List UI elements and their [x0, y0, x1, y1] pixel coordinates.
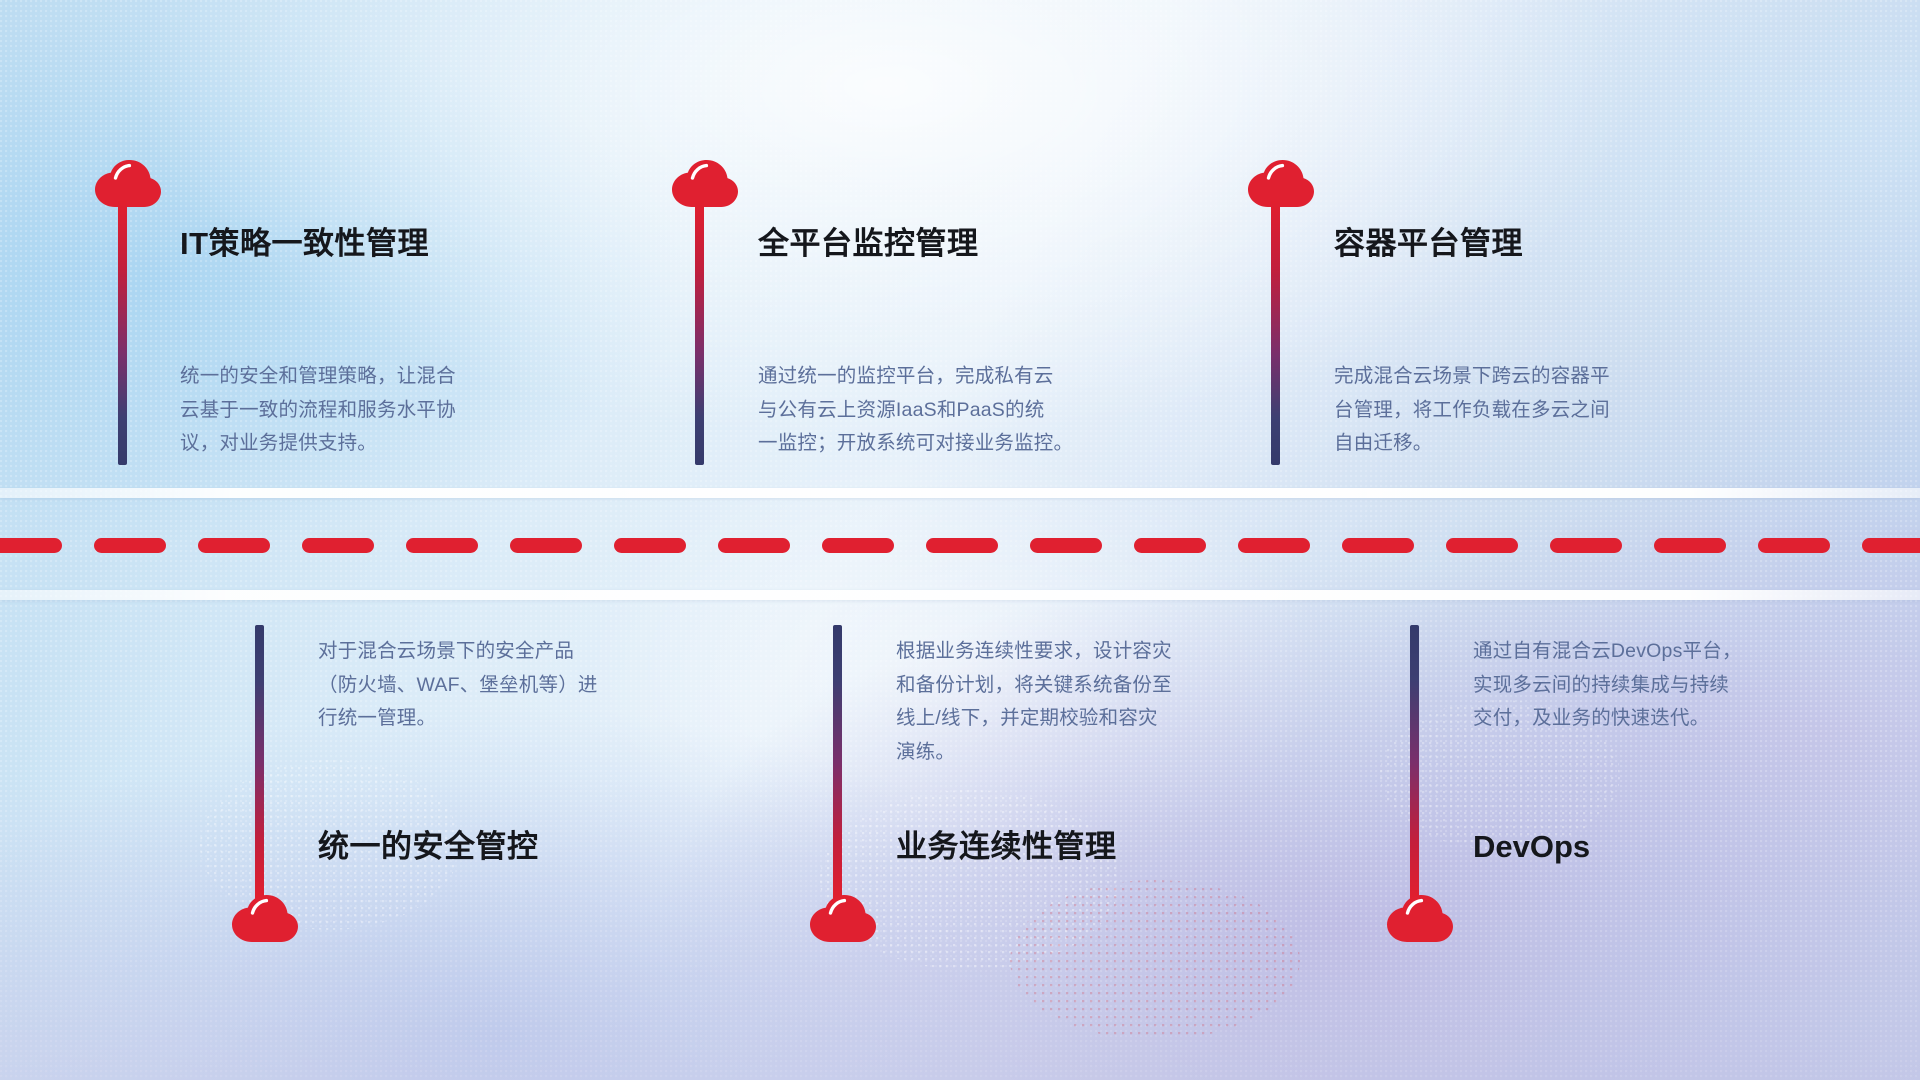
road-dash	[1654, 538, 1726, 553]
column-description: 对于混合云场景下的安全产品 （防火墙、WAF、堡垒机等）进 行统一管理。	[318, 635, 748, 736]
cloud-icon	[810, 895, 876, 943]
dot-patch-red	[1010, 880, 1300, 1040]
road-dash	[1550, 538, 1622, 553]
road-dash	[822, 538, 894, 553]
cloud-icon	[1387, 895, 1453, 943]
page-title: 统一的安全管控	[318, 828, 539, 865]
column-description: 通过统一的监控平台，完成私有云 与公有云上资源IaaS和PaaS的统 一监控；开…	[758, 360, 1208, 461]
column-description: 统一的安全和管理策略，让混合 云基于一致的流程和服务水平协 议，对业务提供支持。	[180, 360, 610, 461]
column-description: 完成混合云场景下跨云的容器平 台管理，将工作负载在多云之间 自由迁移。	[1334, 360, 1764, 461]
page-title: 业务连续性管理	[896, 828, 1117, 865]
column-stem	[118, 200, 127, 465]
column-description: 通过自有混合云DevOps平台， 实现多云间的持续集成与持续 交付，及业务的快速…	[1473, 635, 1903, 736]
road-dash	[302, 538, 374, 553]
cloud-icon	[1248, 160, 1314, 208]
dot-patch-center	[820, 790, 1120, 970]
road-dash	[94, 538, 166, 553]
page-title: 容器平台管理	[1334, 225, 1523, 262]
road-dash	[1446, 538, 1518, 553]
cloud-icon	[232, 895, 298, 943]
road-dash	[1758, 538, 1830, 553]
road-dash	[1862, 538, 1920, 553]
column-stem	[833, 625, 842, 900]
page-title: IT策略一致性管理	[180, 225, 429, 262]
column-stem	[255, 625, 264, 900]
road-dash	[510, 538, 582, 553]
road-dash	[614, 538, 686, 553]
road-dash	[0, 538, 62, 553]
road-dash	[1238, 538, 1310, 553]
column-stem	[1271, 200, 1280, 465]
cloud-icon	[95, 160, 161, 208]
page-title: 全平台监控管理	[758, 225, 979, 262]
page-title: DevOps	[1473, 828, 1590, 865]
road-center-dashes	[0, 538, 1920, 553]
cloud-icon	[672, 160, 738, 208]
column-description: 根据业务连续性要求，设计容灾 和备份计划，将关键系统备份至 线上/线下，并定期校…	[896, 635, 1326, 769]
road-dash	[718, 538, 790, 553]
road-dash	[1134, 538, 1206, 553]
road-edge-top	[0, 488, 1920, 498]
road-dash	[1342, 538, 1414, 553]
column-stem	[695, 200, 704, 465]
road-dash	[198, 538, 270, 553]
road-dash	[926, 538, 998, 553]
column-stem	[1410, 625, 1419, 900]
infographic-canvas: IT策略一致性管理 统一的安全和管理策略，让混合 云基于一致的流程和服务水平协 …	[0, 0, 1920, 1080]
road-dash	[406, 538, 478, 553]
road-edge-bottom	[0, 590, 1920, 600]
road-dash	[1030, 538, 1102, 553]
